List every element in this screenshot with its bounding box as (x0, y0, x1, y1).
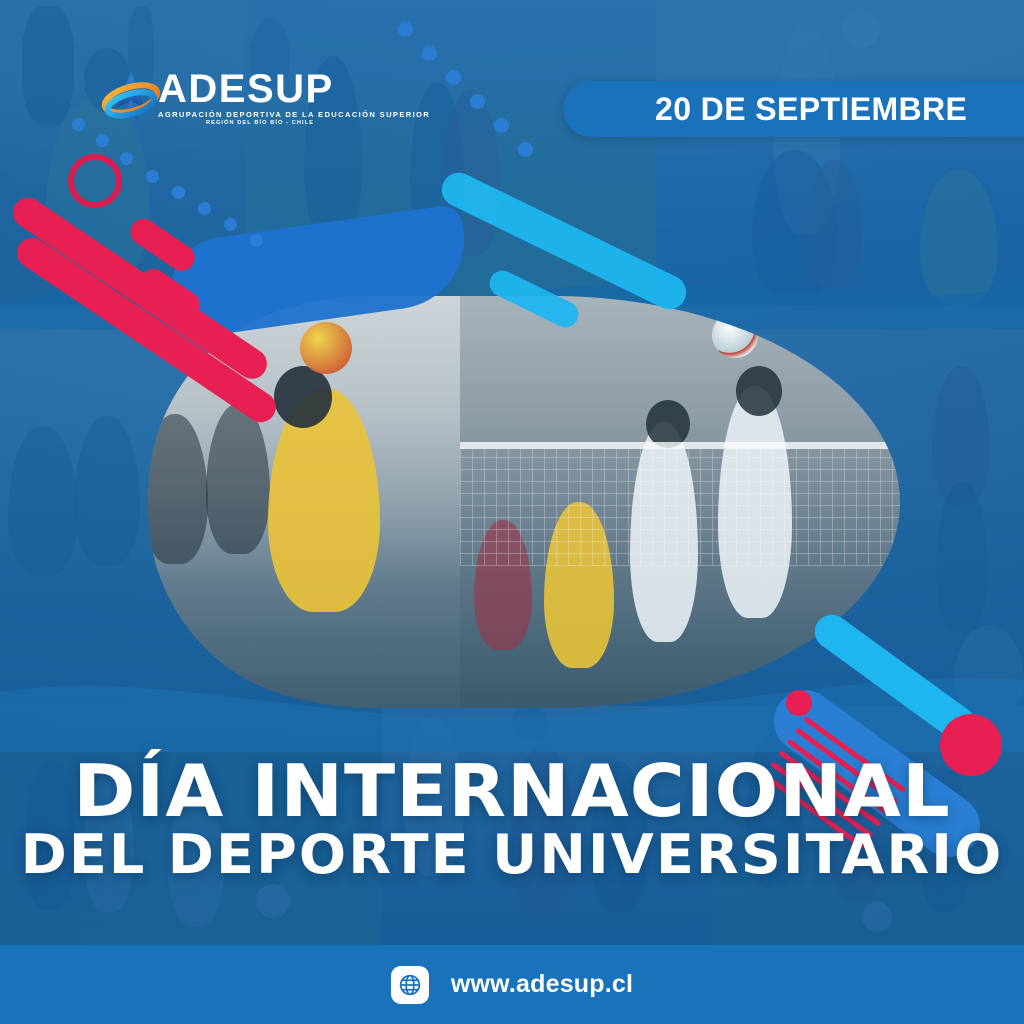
adesup-wordmark: ADESUP AGRUPACIÓN DEPORTIVA DE LA EDUCAC… (158, 70, 362, 126)
logo-tagline: AGRUPACIÓN DEPORTIVA DE LA EDUCACIÓN SUP… (158, 110, 362, 119)
headline-line-1: DÍA INTERNACIONAL (0, 757, 1024, 826)
adesup-logo-mark (100, 68, 162, 130)
footer-bar: www.adesup.cl (0, 945, 1024, 1024)
globe-icon (391, 966, 429, 1004)
headline-line-2: DEL DEPORTE UNIVERSITARIO (0, 828, 1024, 882)
date-badge-label: 20 DE SEPTIEMBRE (563, 91, 967, 128)
page-title: DÍA INTERNACIONAL DEL DEPORTE UNIVERSITA… (0, 757, 1024, 882)
logo-region: REGIÓN DEL BÍO BÍO - CHILE (158, 120, 362, 126)
date-badge: 20 DE SEPTIEMBRE (563, 81, 1024, 137)
website-url[interactable]: www.adesup.cl (451, 970, 633, 999)
adesup-logo[interactable]: ADESUP AGRUPACIÓN DEPORTIVA DE LA EDUCAC… (100, 66, 362, 142)
logo-wordmark-text: ADESUP (158, 70, 362, 108)
poster-canvas: ADESUP AGRUPACIÓN DEPORTIVA DE LA EDUCAC… (0, 0, 1024, 1024)
crimson-circle-small (786, 690, 812, 716)
